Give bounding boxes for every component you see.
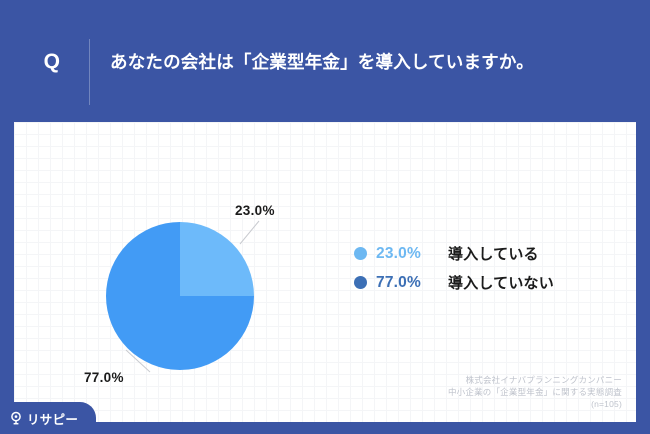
legend-item-not-introduced[interactable]: 77.0% 導入していない <box>354 268 624 297</box>
legend-color-dot-icon <box>354 247 367 260</box>
magnifier-icon <box>9 411 23 425</box>
chart-legend: 23.0% 導入している 77.0% 導入していない <box>354 239 624 297</box>
legend-item-introduced[interactable]: 23.0% 導入している <box>354 239 624 268</box>
legend-percent: 23.0% <box>376 245 448 263</box>
page-title: あなたの会社は「企業型年金」を導入していますか。 <box>110 50 630 75</box>
content-card: 23.0% 77.0% 23.0% 導入している 77.0% 導入していない 株… <box>14 122 636 422</box>
leader-line-introduced <box>240 221 259 244</box>
source-credit: 株式会社イナバプランニングカンパニー 中小企業の「企業型年金」に関する実態調査 … <box>448 374 622 410</box>
legend-label: 導入していない <box>448 272 554 293</box>
pie-slice-introduced[interactable] <box>180 222 254 296</box>
legend-label: 導入している <box>448 243 539 264</box>
legend-color-dot-icon <box>354 276 367 289</box>
credit-sample-size: (n=105) <box>448 398 622 410</box>
credit-survey: 中小企業の「企業型年金」に関する実態調査 <box>448 386 622 398</box>
pie-data-label-not-introduced: 77.0% <box>84 370 124 385</box>
question-badge: Q <box>34 50 70 74</box>
slide-root: Q あなたの会社は「企業型年金」を導入していますか。 23.0% 77.0% 2 <box>0 0 650 434</box>
pie-data-label-introduced: 23.0% <box>235 203 275 218</box>
logo-text: リサピー <box>27 409 78 428</box>
header-band: Q あなたの会社は「企業型年金」を導入していますか。 <box>0 0 650 122</box>
header-divider <box>89 39 90 105</box>
logo-badge[interactable]: リサピー <box>0 402 96 434</box>
legend-percent: 77.0% <box>376 274 448 292</box>
credit-company: 株式会社イナバプランニングカンパニー <box>448 374 622 386</box>
